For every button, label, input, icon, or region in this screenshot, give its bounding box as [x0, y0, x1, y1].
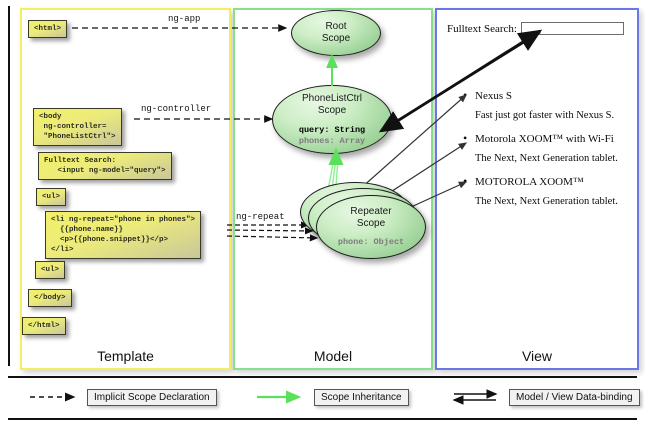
ng-repeat-label: ng-repeat [236, 212, 285, 222]
column-model-label: Model [235, 348, 431, 364]
view-phone-name-1: Motorola XOOM™ with Wi-Fi [463, 133, 631, 146]
scope-phonelistctrl-title-1: PhoneListCtrl [302, 93, 362, 105]
scope-root-scope: Root Scope [291, 10, 381, 56]
view-search-input[interactable] [521, 22, 624, 35]
legend-label-model-view-databinding: Model / View Data-binding [509, 389, 640, 406]
view-phone-snippet-1: The Next, Next Generation tablet. [463, 153, 631, 165]
legend-double-arrow-icon [450, 388, 504, 406]
column-template-label: Template [22, 348, 229, 364]
template-box-fulltext-search: Fulltext Search: <input ng-model="query"… [38, 152, 172, 180]
legend-entry-model-view-databinding: Model / View Data-binding [450, 388, 640, 406]
template-box-body-open-tag: <body ng-controller= "PhoneListCtrl"> [33, 108, 122, 146]
view-rendered-page: Fulltext Search: Nexus S Fast just got f… [437, 10, 637, 368]
scope-repeater-title-2: Scope [357, 218, 385, 230]
legend-entry-implicit-scope-declaration: Implicit Scope Declaration [28, 388, 217, 406]
view-phone-snippet-0: Fast just got faster with Nexus S. [463, 110, 631, 122]
view-phone-name-0: Nexus S [463, 90, 631, 103]
diagram-canvas: Template <html> <body ng-controller= "Ph… [0, 0, 645, 425]
view-phone-item-0: Nexus S Fast just got faster with Nexus … [463, 90, 631, 122]
template-box-ul-open-tag: <ul> [36, 188, 66, 206]
scope-phonelistctrl-prop-phones: phones: Array [299, 136, 365, 147]
template-box-html-open-tag: <html> [28, 20, 67, 38]
scope-phonelistctrl-prop-query: query: String [299, 125, 365, 136]
view-phone-item-2: MOTOROLA XOOM™ The Next, Next Generation… [463, 176, 631, 208]
column-view: Fulltext Search: Nexus S Fast just got f… [435, 8, 639, 370]
legend-entry-scope-inheritance: Scope Inheritance [255, 388, 409, 406]
scope-phonelistctrl-scope: PhoneListCtrl Scope query: String phones… [272, 85, 392, 154]
legend-bottom-rule [8, 418, 637, 420]
view-phone-list: Nexus S Fast just got faster with Nexus … [463, 90, 631, 219]
view-phone-name-2: MOTOROLA XOOM™ [463, 176, 631, 189]
frame-left-edge [8, 6, 10, 366]
legend-label-scope-inheritance: Scope Inheritance [314, 389, 409, 406]
legend-label-implicit-scope-declaration: Implicit Scope Declaration [87, 389, 217, 406]
view-search-row: Fulltext Search: [447, 22, 624, 35]
template-box-html-close-tag: </html> [22, 317, 66, 335]
template-box-li-ng-repeat: <li ng-repeat="phone in phones"> {{phone… [45, 211, 201, 259]
scope-repeater-scope: Repeater Scope phone: Object [316, 195, 426, 259]
legend-top-rule [8, 376, 637, 378]
template-box-body-close-tag: </body> [28, 289, 72, 307]
template-box-ul-close-tag: <ul> [35, 261, 65, 279]
legend-green-arrow-icon [255, 388, 309, 406]
ng-app-label: ng-app [168, 14, 200, 24]
view-phone-snippet-2: The Next, Next Generation tablet. [463, 196, 631, 208]
view-phone-item-1: Motorola XOOM™ with Wi-Fi The Next, Next… [463, 133, 631, 165]
column-view-label: View [437, 348, 637, 364]
scope-root-title-2: Scope [322, 33, 350, 45]
view-search-label: Fulltext Search: [447, 23, 517, 35]
scope-repeater-prop-phone: phone: Object [338, 237, 404, 248]
scope-phonelistctrl-title-2: Scope [318, 105, 346, 117]
ng-controller-label: ng-controller [141, 104, 211, 114]
scope-root-title-1: Root [325, 21, 346, 33]
legend-dashed-arrow-icon [28, 388, 82, 406]
scope-repeater-title-1: Repeater [350, 206, 391, 218]
